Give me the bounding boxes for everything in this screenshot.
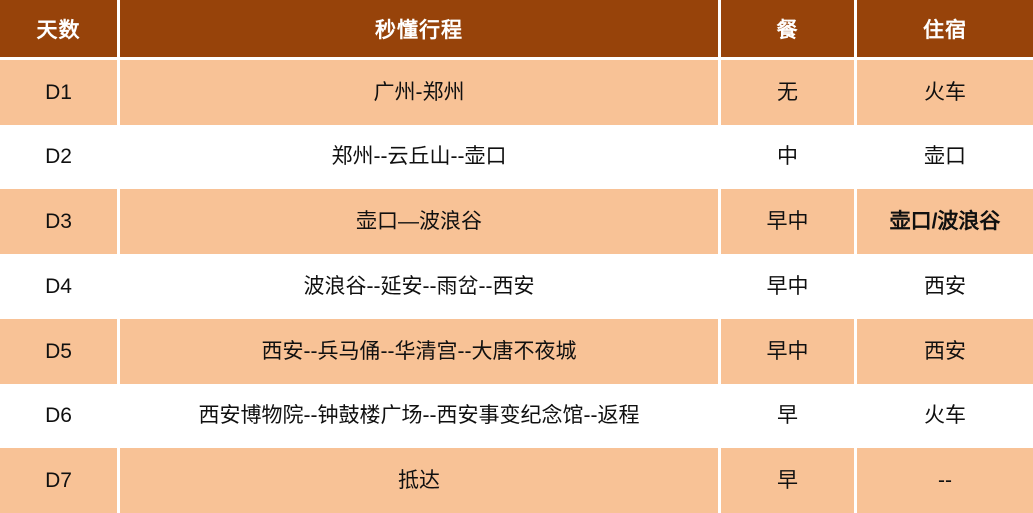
table-row: D3 壶口—波浪谷 早中 壶口/波浪谷 (0, 189, 1033, 254)
itinerary-table: 天数 秒懂行程 餐 住宿 D1 广州-郑州 无 火车 D2 郑州--云丘山--壶… (0, 0, 1033, 513)
table-row: D6 西安博物院--钟鼓楼广场--西安事变纪念馆--返程 早 火车 (0, 384, 1033, 449)
cell-day: D7 (0, 448, 120, 513)
cell-route: 广州-郑州 (120, 60, 721, 125)
cell-stay: 西安 (857, 319, 1033, 384)
table-row: D1 广州-郑州 无 火车 (0, 60, 1033, 125)
column-header-meal: 餐 (721, 0, 857, 60)
table-header: 天数 秒懂行程 餐 住宿 (0, 0, 1033, 60)
cell-route: 壶口—波浪谷 (120, 189, 721, 254)
cell-day: D4 (0, 254, 120, 319)
cell-day: D1 (0, 60, 120, 125)
header-row: 天数 秒懂行程 餐 住宿 (0, 0, 1033, 60)
cell-stay: -- (857, 448, 1033, 513)
table-body: D1 广州-郑州 无 火车 D2 郑州--云丘山--壶口 中 壶口 D3 壶口—… (0, 60, 1033, 513)
cell-route: 波浪谷--延安--雨岔--西安 (120, 254, 721, 319)
column-header-stay: 住宿 (857, 0, 1033, 60)
cell-day: D6 (0, 384, 120, 449)
cell-meal: 早中 (721, 319, 857, 384)
cell-route: 西安博物院--钟鼓楼广场--西安事变纪念馆--返程 (120, 384, 721, 449)
cell-stay: 壶口/波浪谷 (857, 189, 1033, 254)
cell-route: 郑州--云丘山--壶口 (120, 125, 721, 190)
cell-meal: 中 (721, 125, 857, 190)
cell-day: D3 (0, 189, 120, 254)
cell-meal: 早中 (721, 189, 857, 254)
cell-meal: 无 (721, 60, 857, 125)
table-row: D4 波浪谷--延安--雨岔--西安 早中 西安 (0, 254, 1033, 319)
cell-route: 抵达 (120, 448, 721, 513)
cell-stay: 火车 (857, 60, 1033, 125)
cell-stay: 火车 (857, 384, 1033, 449)
cell-day: D2 (0, 125, 120, 190)
table-row: D5 西安--兵马俑--华清宫--大唐不夜城 早中 西安 (0, 319, 1033, 384)
cell-stay: 西安 (857, 254, 1033, 319)
cell-route: 西安--兵马俑--华清宫--大唐不夜城 (120, 319, 721, 384)
cell-day: D5 (0, 319, 120, 384)
cell-stay: 壶口 (857, 125, 1033, 190)
column-header-days: 天数 (0, 0, 120, 60)
column-header-route: 秒懂行程 (120, 0, 721, 60)
cell-meal: 早中 (721, 254, 857, 319)
cell-meal: 早 (721, 448, 857, 513)
table-row: D7 抵达 早 -- (0, 448, 1033, 513)
table-row: D2 郑州--云丘山--壶口 中 壶口 (0, 125, 1033, 190)
cell-meal: 早 (721, 384, 857, 449)
